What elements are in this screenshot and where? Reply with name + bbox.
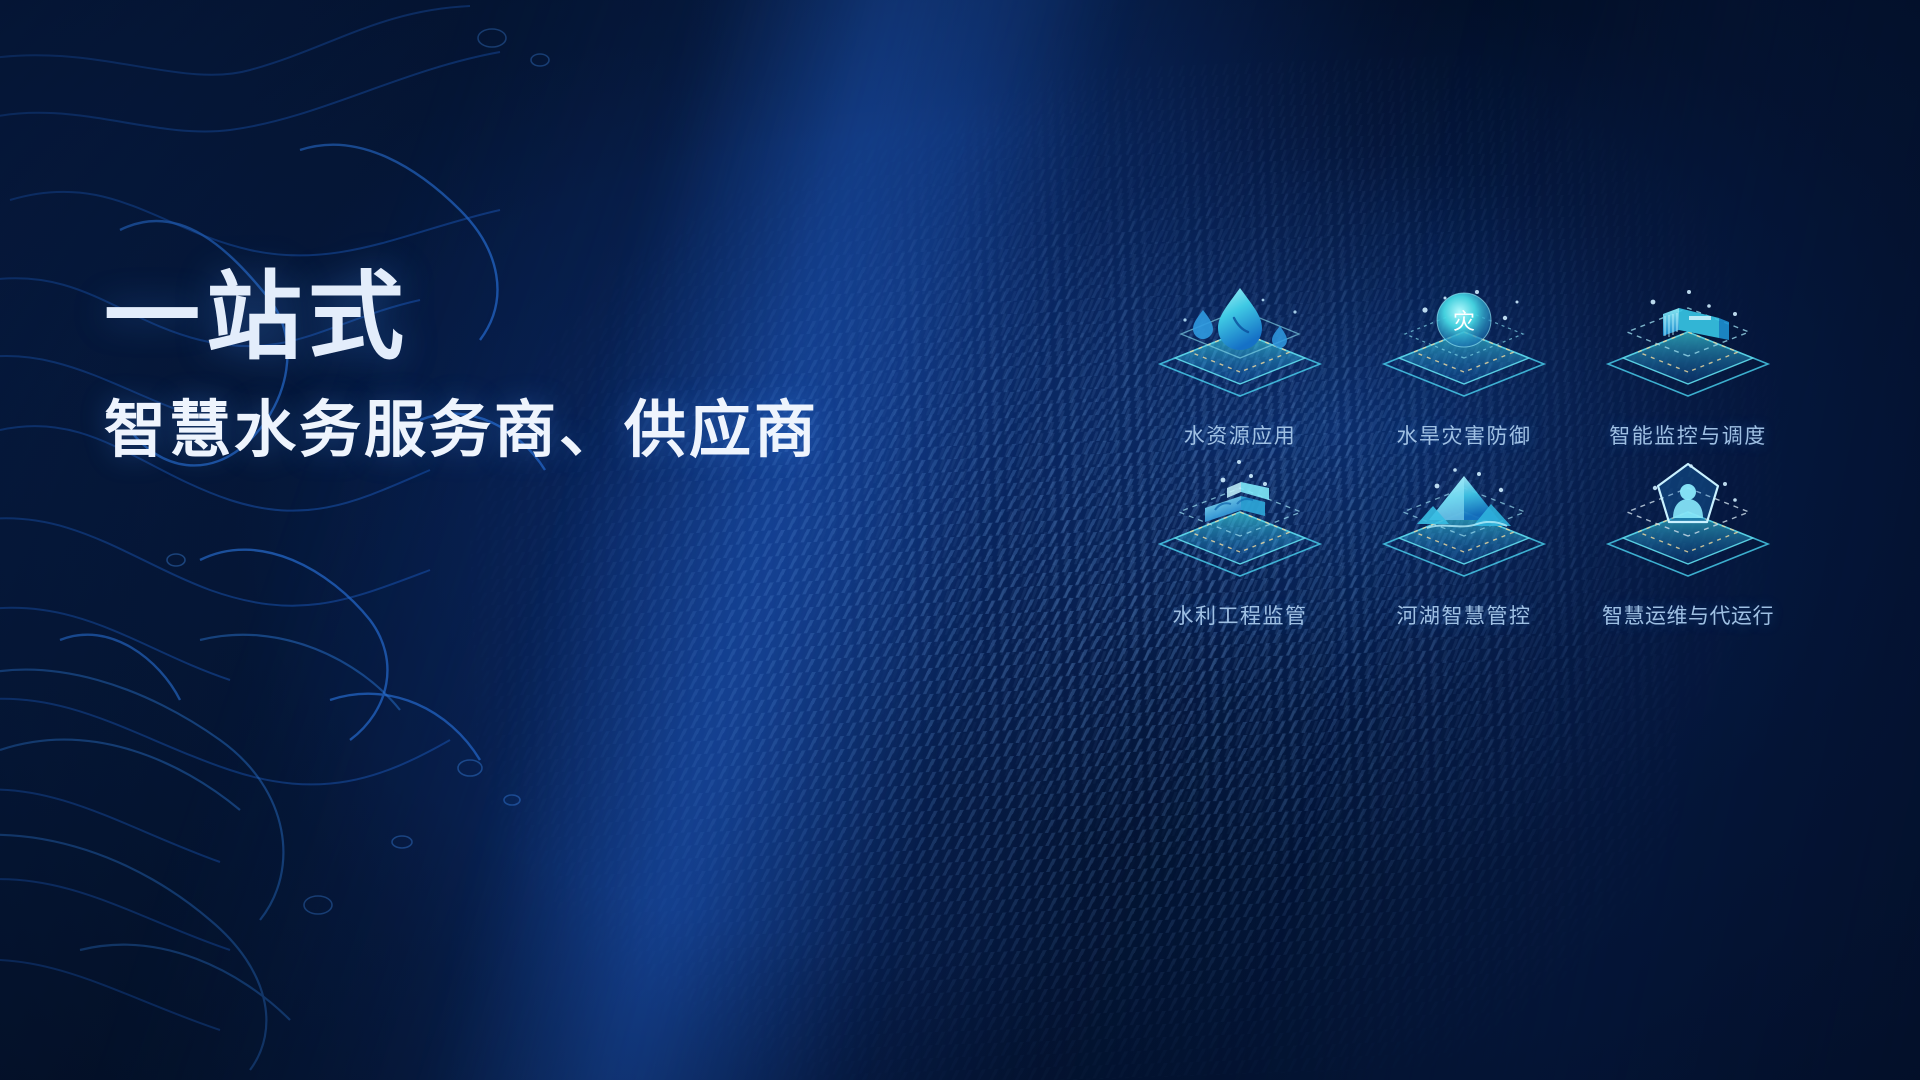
disaster-sphere-platform-icon: 灾 [1369, 276, 1559, 412]
page-title: 一站式 [104, 268, 924, 369]
water-droplet-platform-icon [1145, 276, 1335, 412]
grid-item-label: 河湖智慧管控 [1397, 600, 1532, 630]
disaster-badge-text: 灾 [1453, 309, 1475, 334]
light-sweep-band-bright [361, 0, 1180, 1080]
grid-item-engineering-supervision[interactable]: 水利工程监管 [1128, 456, 1352, 636]
grid-item-label: 智慧运维与代运行 [1602, 600, 1774, 630]
slide-root: 一站式 智慧水务服务商、供应商 [0, 0, 1920, 1080]
grid-item-river-lake-control[interactable]: 河湖智慧管控 [1352, 456, 1576, 636]
headline-block: 一站式 智慧水务服务商、供应商 [104, 268, 924, 465]
grid-item-water-resource[interactable]: 水资源应用 [1128, 276, 1352, 456]
waterworks-building-platform-icon [1145, 456, 1335, 592]
grid-item-disaster-defense[interactable]: 灾 水旱灾害防御 [1352, 276, 1576, 456]
grid-item-label: 智能监控与调度 [1609, 420, 1767, 450]
grid-item-label: 水资源应用 [1184, 420, 1297, 450]
grid-item-label: 水旱灾害防御 [1397, 420, 1532, 450]
grid-item-smart-operations[interactable]: 智慧运维与代运行 [1576, 456, 1800, 636]
grid-item-smart-monitoring[interactable]: 智能监控与调度 [1576, 276, 1800, 456]
capability-icon-grid: 水资源应用 [1128, 276, 1800, 636]
water-ripple-texture-lower-icon [0, 620, 720, 1080]
page-subtitle: 智慧水务服务商、供应商 [104, 397, 924, 465]
dam-structure-platform-icon [1593, 276, 1783, 412]
water-ripple-texture-icon [0, 0, 760, 1080]
shield-operator-platform-icon [1593, 456, 1783, 592]
grid-item-label: 水利工程监管 [1173, 600, 1308, 630]
mountain-river-platform-icon [1369, 456, 1559, 592]
